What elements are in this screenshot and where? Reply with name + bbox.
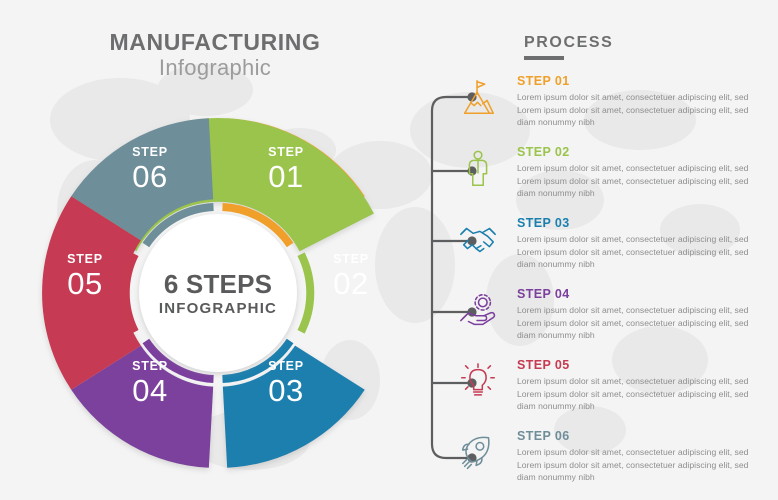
hub-title: 6 STEPS	[164, 269, 272, 299]
process-step-item-05[interactable]: STEP 05 Lorem ipsum dolor sit amet, cons…	[455, 354, 775, 420]
step-heading-04: STEP 04	[517, 287, 752, 301]
step-body-06: Lorem ipsum dolor sit amet, consectetuer…	[517, 446, 752, 484]
step-body-line-3: diam nonummy nibh	[517, 401, 595, 411]
step-body-line-1: Lorem ipsum dolor sit amet, consectetuer…	[517, 163, 748, 173]
inner-ring-arc-step-05	[126, 254, 135, 332]
businessman-icon	[455, 141, 501, 195]
step-body-04: Lorem ipsum dolor sit amet, consectetuer…	[517, 304, 752, 342]
donut-label-step-word-04: STEP	[132, 359, 168, 373]
step-heading-02: STEP 02	[517, 145, 752, 159]
process-step-item-01[interactable]: STEP 01 Lorem ipsum dolor sit amet, cons…	[455, 70, 775, 136]
donut-label-number-02: 02	[333, 266, 368, 301]
step-body-line-2: Lorem ipsum dolor sit amet, consectetuer…	[517, 105, 748, 115]
step-body-line-1: Lorem ipsum dolor sit amet, consectetuer…	[517, 92, 748, 102]
step-body-line-3: diam nonummy nibh	[517, 188, 595, 198]
step-body-line-3: diam nonummy nibh	[517, 117, 595, 127]
step-body-line-2: Lorem ipsum dolor sit amet, consectetuer…	[517, 389, 748, 399]
hand-gear-icon	[455, 283, 501, 337]
step-body-line-3: diam nonummy nibh	[517, 259, 595, 269]
step-body-line-1: Lorem ipsum dolor sit amet, consectetuer…	[517, 376, 748, 386]
step-body-02: Lorem ipsum dolor sit amet, consectetuer…	[517, 162, 752, 200]
donut-label-step-word-02: STEP	[333, 252, 369, 266]
donut-label-number-03: 03	[268, 373, 303, 408]
process-step-text-02: STEP 02 Lorem ipsum dolor sit amet, cons…	[501, 141, 752, 200]
rocket-icon	[455, 425, 501, 479]
step-body-line-1: Lorem ipsum dolor sit amet, consectetuer…	[517, 305, 748, 315]
donut-label-step-word-03: STEP	[268, 359, 304, 373]
step-body-03: Lorem ipsum dolor sit amet, consectetuer…	[517, 233, 752, 271]
donut-label-number-06: 06	[132, 159, 167, 194]
step-heading-01: STEP 01	[517, 74, 752, 88]
process-heading-block: PROCESS	[524, 34, 613, 60]
step-body-line-2: Lorem ipsum dolor sit amet, consectetuer…	[517, 176, 748, 186]
page-title: MANUFACTURING	[0, 30, 430, 54]
donut-label-number-05: 05	[67, 266, 102, 301]
process-step-item-02[interactable]: STEP 02 Lorem ipsum dolor sit amet, cons…	[455, 141, 775, 207]
process-step-item-03[interactable]: STEP 03 Lorem ipsum dolor sit amet, cons…	[455, 212, 775, 278]
page-title-block: MANUFACTURING Infographic	[0, 30, 430, 80]
step-body-line-1: Lorem ipsum dolor sit amet, consectetuer…	[517, 234, 748, 244]
page-subtitle: Infographic	[0, 55, 430, 80]
step-body-line-2: Lorem ipsum dolor sit amet, consectetuer…	[517, 247, 748, 257]
step-body-line-1: Lorem ipsum dolor sit amet, consectetuer…	[517, 447, 748, 457]
step-heading-06: STEP 06	[517, 429, 752, 443]
inner-ring-arc-step-02	[301, 254, 310, 332]
step-body-line-3: diam nonummy nibh	[517, 330, 595, 340]
handshake-icon	[455, 212, 501, 266]
donut-label-step-word-05: STEP	[67, 252, 103, 266]
step-body-line-2: Lorem ipsum dolor sit amet, consectetuer…	[517, 460, 748, 470]
process-step-text-06: STEP 06 Lorem ipsum dolor sit amet, cons…	[501, 425, 752, 484]
step-body-01: Lorem ipsum dolor sit amet, consectetuer…	[517, 91, 752, 129]
six-step-donut-chart: 6 STEPS INFOGRAPHIC STEP 01 STEP 02 STEP…	[33, 108, 403, 478]
process-step-text-05: STEP 05 Lorem ipsum dolor sit amet, cons…	[501, 354, 752, 413]
process-step-item-06[interactable]: STEP 06 Lorem ipsum dolor sit amet, cons…	[455, 425, 775, 491]
process-step-text-03: STEP 03 Lorem ipsum dolor sit amet, cons…	[501, 212, 752, 271]
process-step-item-04[interactable]: STEP 04 Lorem ipsum dolor sit amet, cons…	[455, 283, 775, 349]
process-step-text-04: STEP 04 Lorem ipsum dolor sit amet, cons…	[501, 283, 752, 342]
donut-label-number-01: 01	[268, 159, 303, 194]
process-heading-underline	[524, 56, 564, 60]
donut-label-step-word-01: STEP	[268, 145, 304, 159]
step-body-line-2: Lorem ipsum dolor sit amet, consectetuer…	[517, 318, 748, 328]
process-heading: PROCESS	[524, 34, 613, 52]
donut-label-step-word-06: STEP	[132, 145, 168, 159]
lightbulb-icon	[455, 354, 501, 408]
step-body-line-3: diam nonummy nibh	[517, 472, 595, 482]
step-heading-05: STEP 05	[517, 358, 752, 372]
mountain-flag-icon	[455, 70, 501, 124]
step-heading-03: STEP 03	[517, 216, 752, 230]
step-body-05: Lorem ipsum dolor sit amet, consectetuer…	[517, 375, 752, 413]
process-step-text-01: STEP 01 Lorem ipsum dolor sit amet, cons…	[501, 70, 752, 129]
hub-subtitle: INFOGRAPHIC	[159, 300, 277, 317]
donut-label-number-04: 04	[132, 373, 167, 408]
